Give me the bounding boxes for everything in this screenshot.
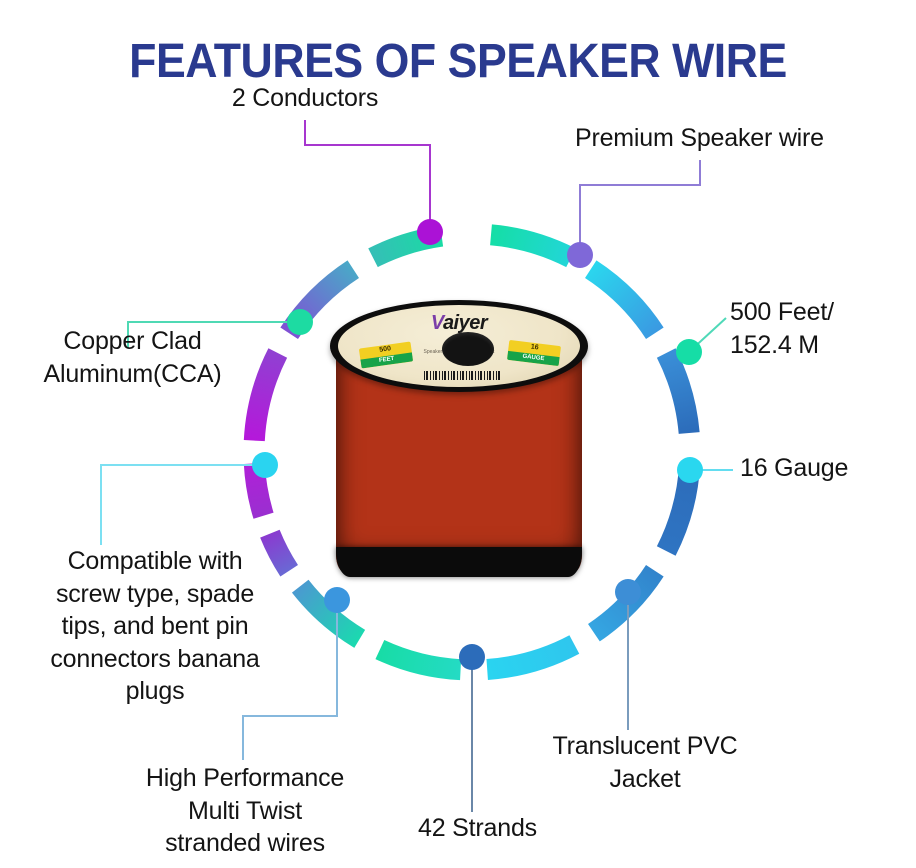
callout-label-high-performance: High Performance Multi Twist stranded wi…	[95, 762, 395, 860]
ring-arc-segment	[666, 353, 689, 433]
callout-dot-cca[interactable]	[287, 309, 313, 335]
leader-line-conductors	[305, 120, 430, 232]
ring-arc-segment	[380, 650, 461, 670]
callout-dot-pvc[interactable]	[615, 579, 641, 605]
callout-label-compatible: Compatible with screw type, spade tips, …	[10, 545, 300, 708]
ring-arc-segment	[487, 644, 574, 669]
callout-dot-feet[interactable]	[676, 339, 702, 365]
callout-label-cca: Copper Clad Aluminum(CCA)	[0, 325, 265, 390]
leader-line-group	[101, 120, 733, 812]
callout-label-strands: 42 Strands	[380, 812, 575, 845]
callout-label-gauge: 16 Gauge	[740, 452, 915, 485]
callout-label-premium: Premium Speaker wire	[575, 122, 916, 155]
callout-dot-compatible[interactable]	[252, 452, 278, 478]
callout-dot-highperf[interactable]	[324, 587, 350, 613]
callout-dot-conductors[interactable]	[417, 219, 443, 245]
leader-line-premium	[580, 160, 700, 255]
callout-dot-strands[interactable]	[459, 644, 485, 670]
leader-line-compatible	[101, 465, 265, 545]
ring-arc-segment	[491, 235, 571, 258]
callout-label-pvc-jacket: Translucent PVC Jacket	[510, 730, 780, 795]
ring-arc-segment	[591, 269, 655, 333]
callout-dot-gauge[interactable]	[677, 457, 703, 483]
speaker-wire-infographic: FEATURES OF SPEAKER WIRE Vaiyer 500 FEET…	[0, 0, 916, 868]
callout-label-conductors: 2 Conductors	[150, 82, 460, 115]
callout-dot-premium[interactable]	[567, 242, 593, 268]
callout-label-length: 500 Feet/ 152.4 M	[730, 296, 915, 361]
